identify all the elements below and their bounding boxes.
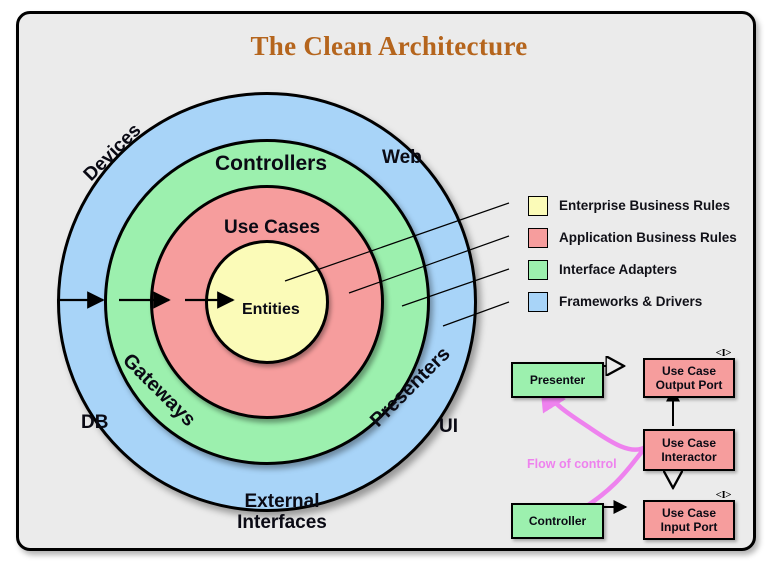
interface-marker-icon: <I> xyxy=(716,489,731,502)
legend: Enterprise Business Rules Application Bu… xyxy=(528,192,737,320)
flow-box-use-case-output-port: <I> Use CaseOutput Port xyxy=(643,358,735,398)
flow-of-control-curve xyxy=(543,388,647,511)
ring-label-web: Web xyxy=(382,147,422,169)
legend-label-frameworks: Frameworks & Drivers xyxy=(559,294,702,309)
ring-label-entities: Entities xyxy=(242,301,300,319)
legend-label-interface: Interface Adapters xyxy=(559,262,677,277)
legend-label-application: Application Business Rules xyxy=(559,230,737,245)
flow-box-use-case-interactor: Use CaseInteractor xyxy=(643,429,735,471)
ring-label-db: DB xyxy=(81,412,108,434)
diagram-panel: The Clean Architecture xyxy=(16,11,756,551)
legend-swatch-frameworks xyxy=(528,292,548,312)
ring-label-controllers: Controllers xyxy=(215,152,327,176)
ring-label-external-interfaces: ExternalInterfaces xyxy=(222,491,342,534)
flow-box-presenter-label: Presenter xyxy=(530,373,585,387)
legend-item-enterprise-business-rules: Enterprise Business Rules xyxy=(528,192,737,219)
interface-marker-icon: <I> xyxy=(716,347,731,360)
legend-swatch-application xyxy=(528,228,548,248)
flow-box-presenter: Presenter xyxy=(511,362,604,398)
flow-box-output-port-label: Use CaseOutput Port xyxy=(656,364,723,393)
ring-label-use-cases: Use Cases xyxy=(224,217,320,239)
flow-box-use-case-input-port: <I> Use CaseInput Port xyxy=(643,500,735,540)
legend-swatch-interface xyxy=(528,260,548,280)
legend-swatch-enterprise xyxy=(528,196,548,216)
legend-item-application-business-rules: Application Business Rules xyxy=(528,224,737,251)
ring-label-ui: UI xyxy=(439,416,458,438)
flow-box-controller-label: Controller xyxy=(529,514,586,528)
flow-box-interactor-label: Use CaseInteractor xyxy=(661,436,716,465)
flow-of-control-label: Flow of control xyxy=(527,457,617,471)
page-title: The Clean Architecture xyxy=(19,31,756,62)
flow-box-input-port-label: Use CaseInput Port xyxy=(661,506,718,535)
legend-label-enterprise: Enterprise Business Rules xyxy=(559,198,730,213)
flow-box-controller: Controller xyxy=(511,503,604,539)
legend-item-interface-adapters: Interface Adapters xyxy=(528,256,737,283)
legend-item-frameworks-drivers: Frameworks & Drivers xyxy=(528,288,737,315)
